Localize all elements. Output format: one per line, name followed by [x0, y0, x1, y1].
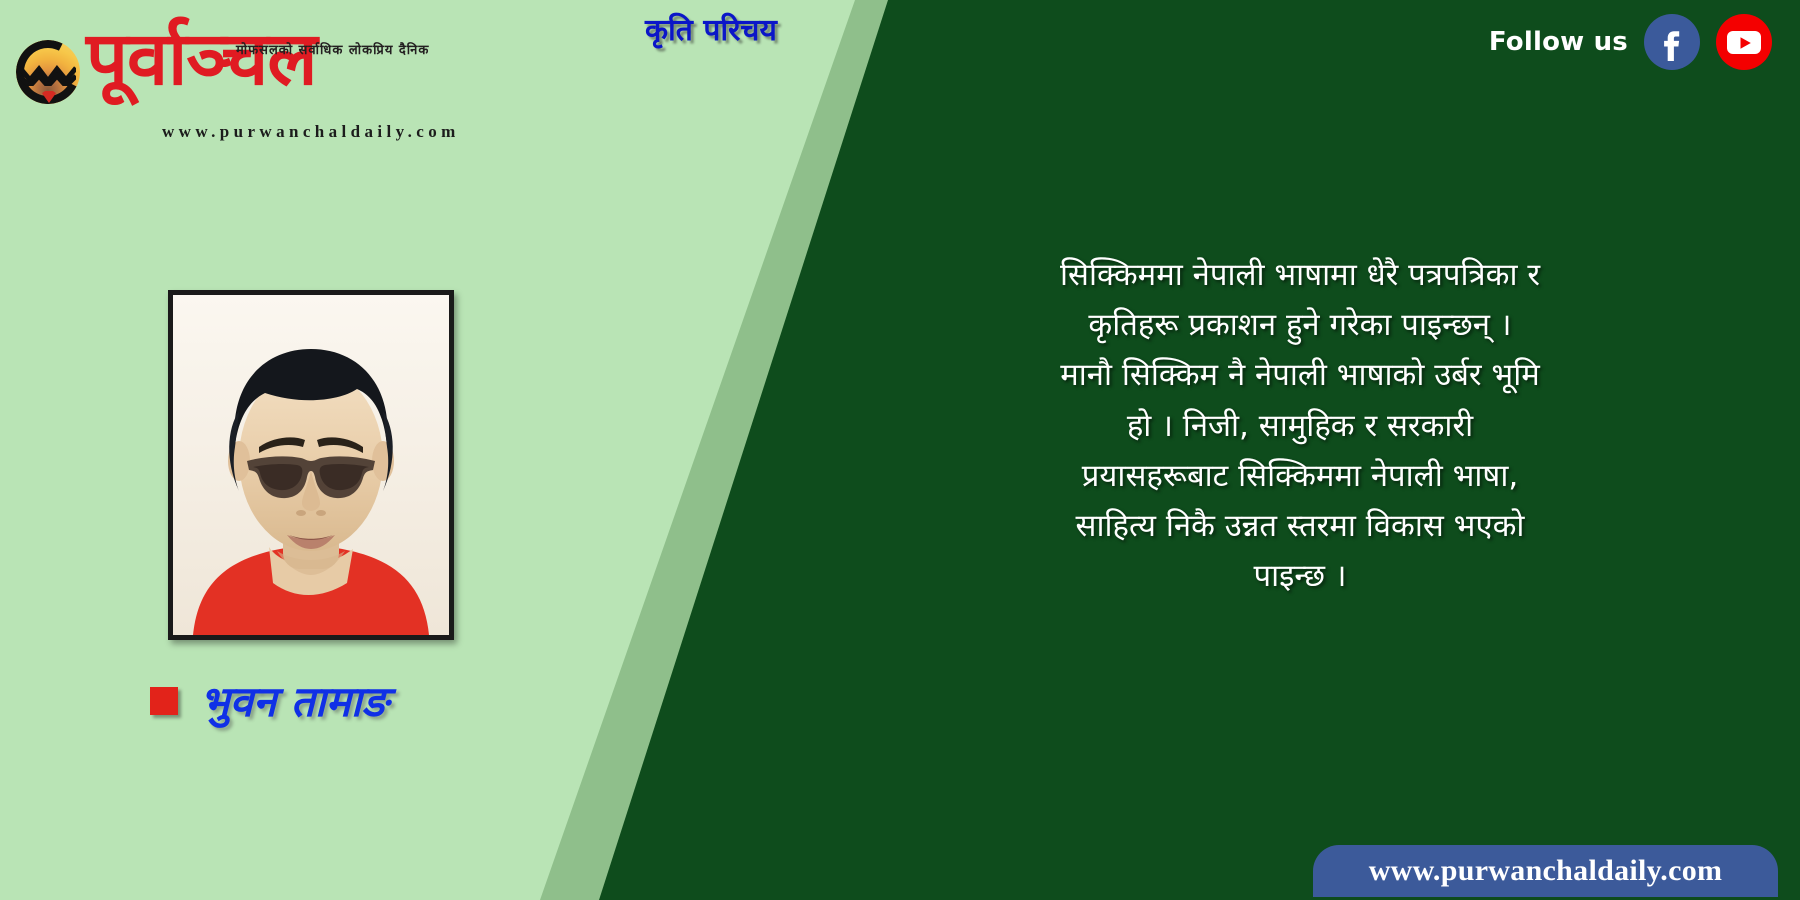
sunrise-mountain-pen-emblem-icon [16, 40, 80, 104]
footer-website-pill[interactable]: www.purwanchaldaily.com [1313, 845, 1778, 897]
brand-logo[interactable]: पूर्वाञ्चल मोफसलको सर्वाधिक लोकप्रिय दैन… [14, 18, 434, 138]
brand-website-url: www.purwanchaldaily.com [162, 122, 460, 142]
social-media-quote-card: पूर्वाञ्चल मोफसलको सर्वाधिक लोकप्रिय दैन… [0, 0, 1800, 900]
section-title: कृति परिचय [645, 8, 777, 49]
author-photo-image [173, 295, 449, 635]
author-byline: भुवन तामाङ [150, 672, 388, 729]
youtube-icon[interactable] [1716, 14, 1772, 70]
footer-website-url: www.purwanchaldaily.com [1369, 854, 1723, 888]
pen-nib-icon [42, 91, 56, 103]
quote-line: पाइन्छ । [960, 551, 1640, 601]
brand-logo-title: पूर्वाञ्चल [86, 14, 317, 104]
quote-line: कृतिहरू प्रकाशन हुने गरेका पाइन्छन् । [960, 300, 1640, 350]
mountain-zigzag-icon [20, 64, 76, 86]
quote-line: सिक्किममा नेपाली भाषामा धेरै पत्रपत्रिका… [960, 250, 1640, 300]
author-photo [168, 290, 454, 640]
quote-line: मानौ सिक्किम नै नेपाली भाषाको उर्बर भूमि [960, 350, 1640, 400]
quote-text-block: सिक्किममा नेपाली भाषामा धेरै पत्रपत्रिका… [960, 250, 1640, 602]
quote-line: साहित्य निकै उन्नत स्तरमा विकास भएको [960, 501, 1640, 551]
follow-us-group: Follow us [1489, 14, 1772, 70]
facebook-icon[interactable] [1644, 14, 1700, 70]
follow-us-label: Follow us [1489, 27, 1628, 57]
quote-line: प्रयासहरूबाट सिक्किममा नेपाली भाषा, [960, 451, 1640, 501]
brand-tagline: मोफसलको सर्वाधिक लोकप्रिय दैनिक [236, 40, 429, 58]
quote-line: हो । निजी, सामुहिक र सरकारी [960, 401, 1640, 451]
author-name: भुवन तामाङ [200, 672, 388, 729]
red-square-bullet-icon [150, 687, 178, 715]
